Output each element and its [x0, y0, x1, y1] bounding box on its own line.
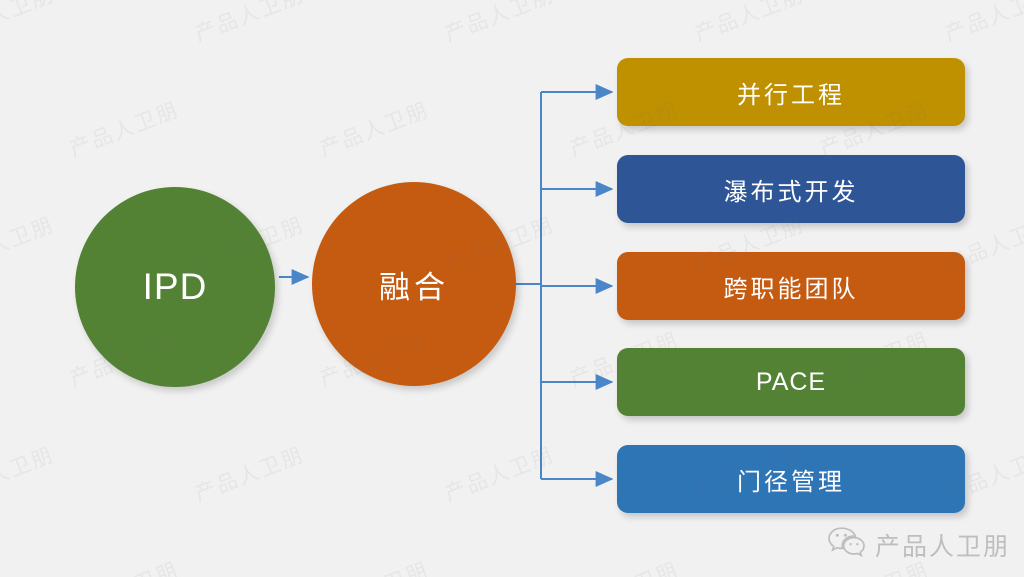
- node-fusion[interactable]: 融合: [312, 182, 516, 386]
- node-branch-1-label: 并行工程: [737, 75, 845, 110]
- node-branch-3-label: 跨职能团队: [724, 269, 859, 304]
- wechat-badge: 产品人卫朋: [828, 526, 1010, 563]
- wechat-icon: [828, 526, 866, 563]
- node-ipd-label: IPD: [143, 266, 208, 308]
- node-branch-5-label: 门径管理: [737, 462, 845, 497]
- node-branch-2[interactable]: 瀑布式开发: [617, 155, 965, 223]
- node-fusion-label: 融合: [379, 262, 449, 307]
- node-branch-3[interactable]: 跨职能团队: [617, 252, 965, 320]
- wechat-badge-label: 产品人卫朋: [875, 527, 1010, 563]
- node-branch-4[interactable]: PACE: [617, 348, 965, 416]
- node-branch-1[interactable]: 并行工程: [617, 58, 965, 126]
- node-branch-2-label: 瀑布式开发: [724, 172, 859, 207]
- node-branch-5[interactable]: 门径管理: [617, 445, 965, 513]
- node-branch-4-label: PACE: [756, 368, 826, 397]
- diagram-canvas: 产品人卫朋产品人卫朋产品人卫朋产品人卫朋产品人卫朋产品人卫朋产品人卫朋产品人卫朋…: [0, 0, 1024, 577]
- node-ipd[interactable]: IPD: [75, 187, 275, 387]
